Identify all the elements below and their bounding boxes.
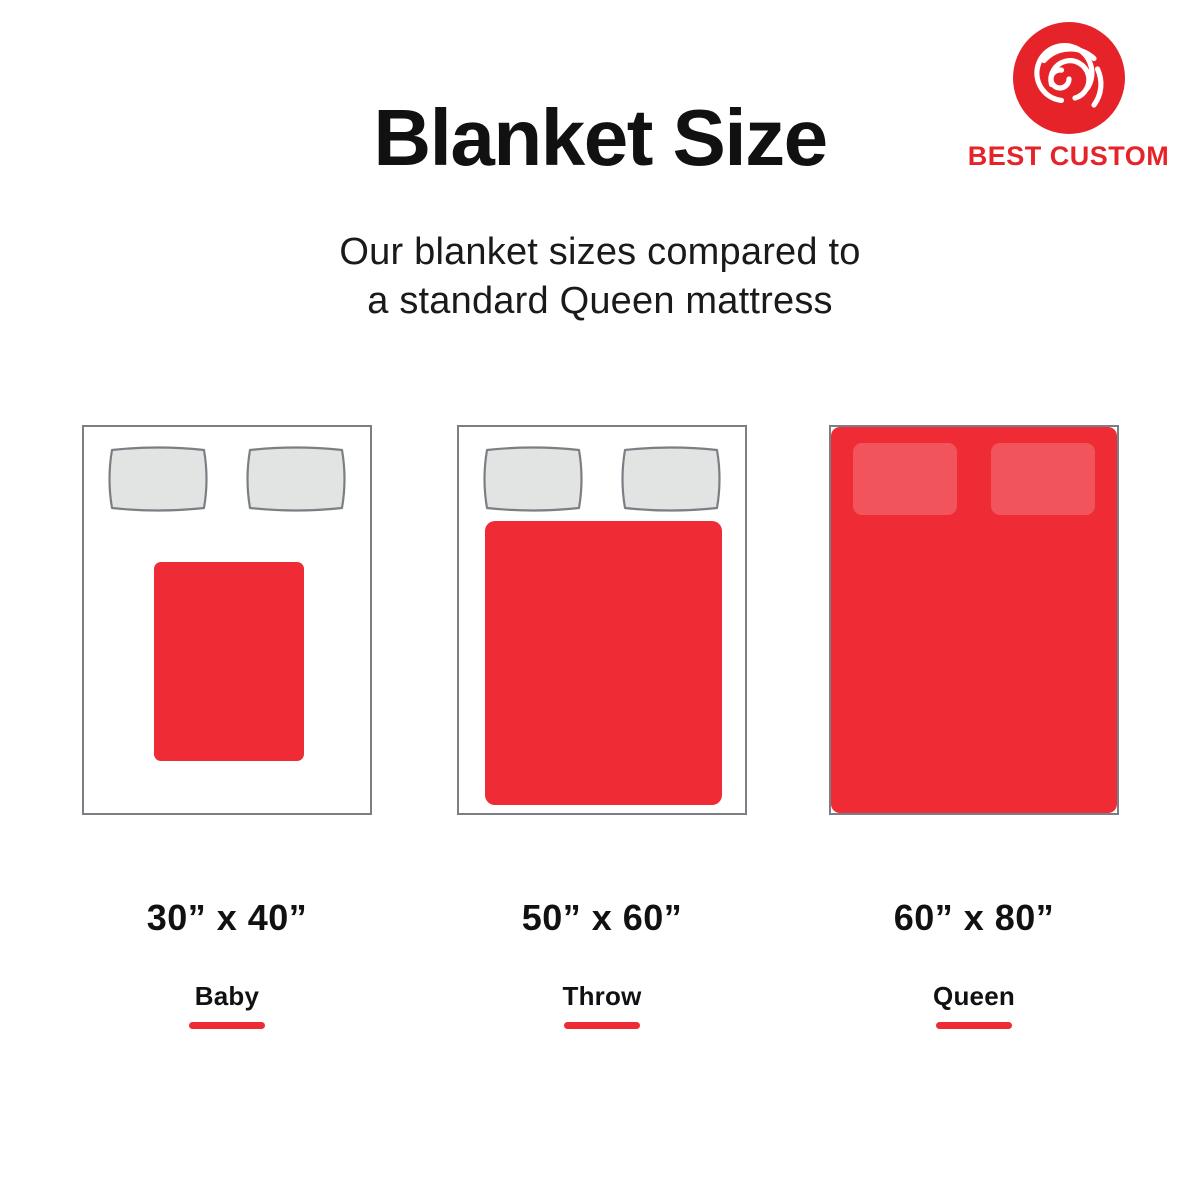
accent-underline	[936, 1022, 1012, 1029]
caption-queen: 60” x 80” Queen	[829, 900, 1119, 1029]
blanket-size-name: Throw	[457, 983, 747, 1009]
pillow-icon	[244, 443, 348, 515]
caption-baby: 30” x 40” Baby	[82, 900, 372, 1029]
pillow-icon	[106, 443, 210, 515]
pillow-icon	[853, 443, 957, 515]
blanket-dimensions: 50” x 60”	[457, 900, 747, 936]
bed-diagram-baby	[82, 425, 372, 815]
caption-throw: 50” x 60” Throw	[457, 900, 747, 1029]
page-subtitle: Our blanket sizes compared to a standard…	[0, 228, 1200, 325]
subtitle-line-2: a standard Queen mattress	[0, 277, 1200, 326]
blanket-dimensions: 30” x 40”	[82, 900, 372, 936]
blanket-shape-throw	[485, 521, 722, 805]
blanket-shape-baby	[154, 562, 304, 761]
accent-underline	[564, 1022, 640, 1029]
pillow-icon	[481, 443, 585, 515]
bed-diagram-group	[0, 425, 1200, 817]
bed-diagram-throw	[457, 425, 747, 815]
bed-diagram-queen	[829, 425, 1119, 815]
blanket-size-infographic: BEST CUSTOM Blanket Size Our blanket siz…	[0, 0, 1200, 1200]
page-title: Blanket Size	[0, 98, 1200, 178]
blanket-shape-queen	[831, 427, 1117, 813]
blanket-dimensions: 60” x 80”	[829, 900, 1119, 936]
subtitle-line-1: Our blanket sizes compared to	[0, 228, 1200, 277]
pillow-icon	[991, 443, 1095, 515]
pillow-icon	[619, 443, 723, 515]
blanket-size-name: Baby	[82, 983, 372, 1009]
blanket-size-name: Queen	[829, 983, 1119, 1009]
accent-underline	[189, 1022, 265, 1029]
